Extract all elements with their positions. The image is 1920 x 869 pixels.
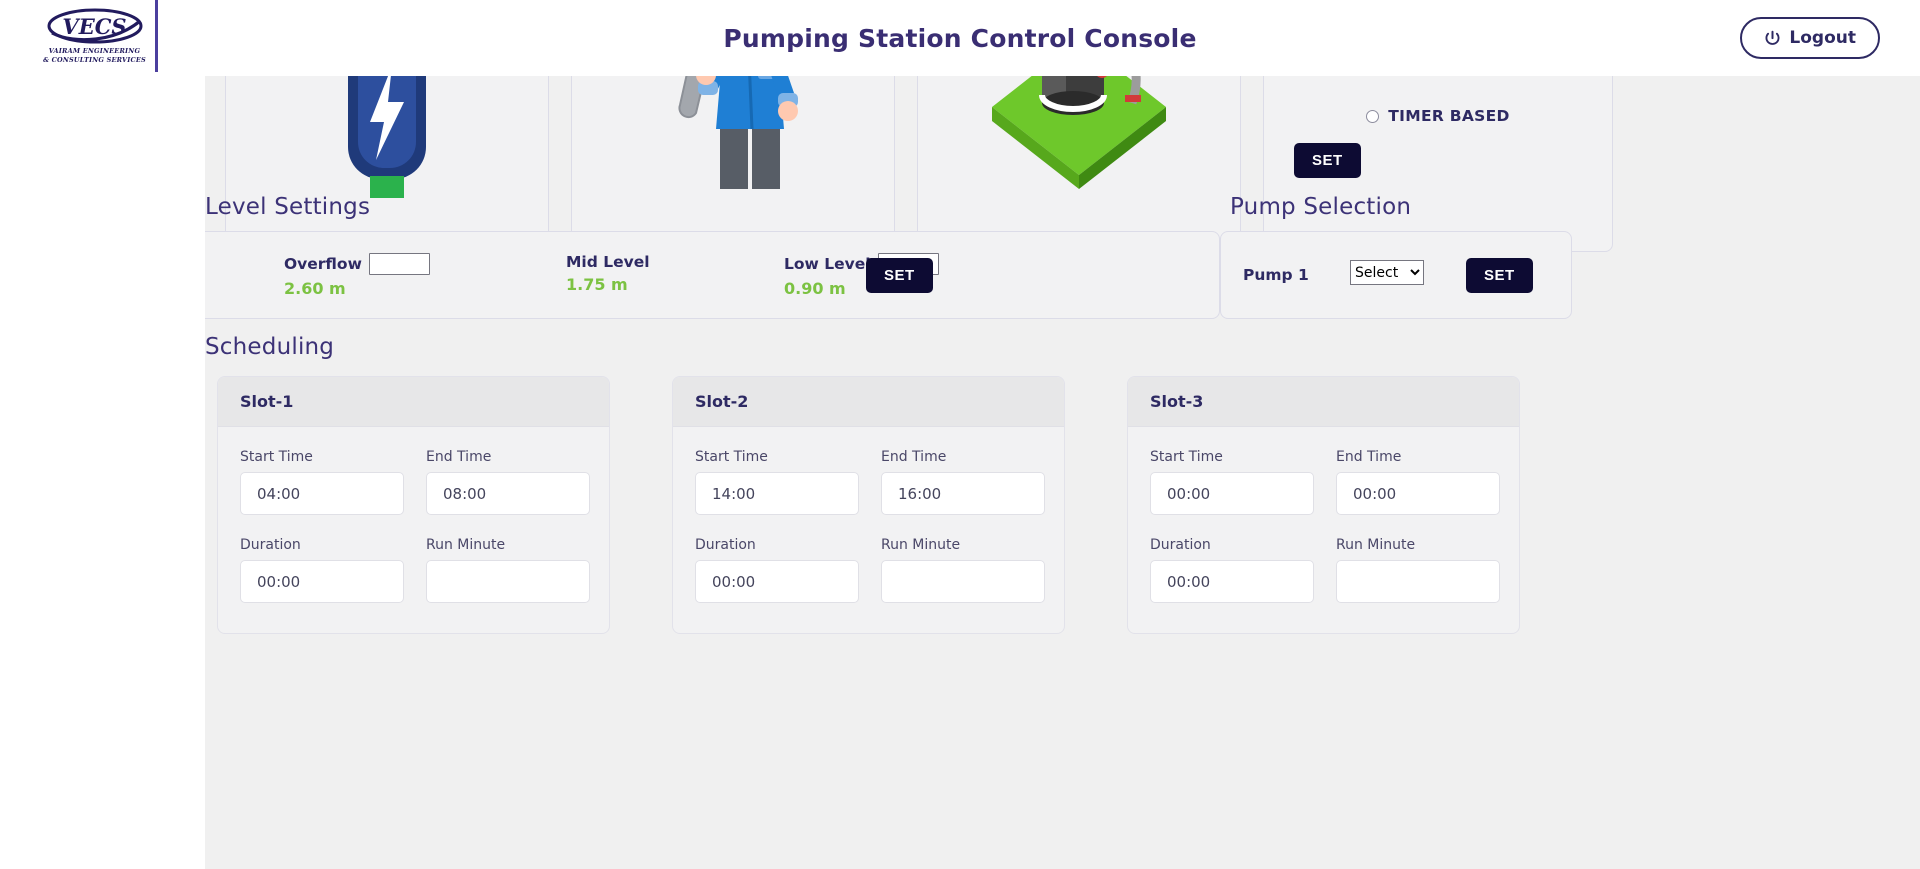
- logo-tagline-line1: VAIRAM ENGINEERING: [49, 47, 140, 56]
- logo-wordmark: VECS: [62, 14, 126, 39]
- slot-1-body: Start Time End Time Duration Run Minute: [218, 427, 609, 633]
- pump-motor-card[interactable]: [917, 76, 1241, 252]
- scheduling-heading: Scheduling: [205, 334, 334, 360]
- slot-1-end-time-input[interactable]: [426, 472, 590, 515]
- low-level-label: Low Level: [784, 255, 871, 273]
- slot-1-header: Slot-1: [218, 377, 609, 427]
- timer-based-label: TIMER BASED: [1388, 107, 1509, 125]
- schedule-slot-1: Slot-1 Start Time End Time Duration: [217, 376, 610, 634]
- slot-2-start-time-label: Start Time: [695, 449, 859, 465]
- slot-2-duration-label: Duration: [695, 537, 859, 553]
- slot-2-start-time-field: Start Time: [695, 449, 859, 515]
- pump-selection-set-button[interactable]: SET: [1466, 258, 1533, 293]
- mode-set-button[interactable]: SET: [1294, 143, 1361, 178]
- overflow-input[interactable]: [369, 253, 430, 275]
- top-header-bar: Pumping Station Control Console VECS VAI…: [0, 0, 1920, 76]
- schedule-slot-2: Slot-2 Start Time End Time Duration: [672, 376, 1065, 634]
- slot-1-start-time-input[interactable]: [240, 472, 404, 515]
- overflow-value: 2.60 m: [284, 279, 430, 298]
- pump-motor-icon: [974, 76, 1184, 209]
- slot-2-end-time-field: End Time: [881, 449, 1045, 515]
- logo-tagline-line2: & CONSULTING SERVICES: [43, 56, 146, 65]
- slot-2-end-time-label: End Time: [881, 449, 1045, 465]
- slot-1-run-minute-field: Run Minute: [426, 537, 590, 603]
- level-field-overflow: Overflow 2.60 m: [284, 253, 430, 298]
- logo-oval-icon: VECS: [46, 7, 144, 45]
- level-field-mid: Mid Level 1.75 m: [566, 253, 650, 294]
- slot-1-end-time-field: End Time: [426, 449, 590, 515]
- slot-3-duration-field: Duration: [1150, 537, 1314, 603]
- level-settings-set-button[interactable]: SET: [866, 258, 933, 293]
- technician-icon: [638, 76, 828, 219]
- pump-selection-panel: Pump 1 Select SET: [1220, 231, 1572, 319]
- slot-2-run-minute-input[interactable]: [881, 560, 1045, 603]
- slot-2-run-minute-field: Run Minute: [881, 537, 1045, 603]
- slot-2-run-minute-label: Run Minute: [881, 537, 1045, 553]
- slot-1-run-minute-input[interactable]: [426, 560, 590, 603]
- timer-based-option[interactable]: TIMER BASED: [1264, 107, 1612, 125]
- mode-selection-card: TIMER BASED SET: [1263, 76, 1613, 252]
- slot-3-end-time-input[interactable]: [1336, 472, 1500, 515]
- power-supply-card[interactable]: [225, 76, 549, 252]
- pump-1-label: Pump 1: [1243, 266, 1309, 284]
- slot-3-start-time-field: Start Time: [1150, 449, 1314, 515]
- slot-2-start-time-input[interactable]: [695, 472, 859, 515]
- slot-3-run-minute-label: Run Minute: [1336, 537, 1500, 553]
- slot-1-duration-label: Duration: [240, 537, 404, 553]
- schedule-slot-3: Slot-3 Start Time End Time Duration: [1127, 376, 1520, 634]
- slot-3-end-time-field: End Time: [1336, 449, 1500, 515]
- page-title: Pumping Station Control Console: [0, 0, 1920, 76]
- level-settings-panel: Overflow 2.60 m Mid Level 1.75 m Low Lev…: [205, 231, 1220, 319]
- slot-3-body: Start Time End Time Duration Run Minute: [1128, 427, 1519, 633]
- slot-1-run-minute-label: Run Minute: [426, 537, 590, 553]
- level-settings-heading: Level Settings: [205, 194, 370, 220]
- slot-3-title: Slot-3: [1150, 392, 1203, 411]
- slot-3-start-time-label: Start Time: [1150, 449, 1314, 465]
- main-content: TIMER BASED SET Level Settings Overflow …: [205, 76, 1920, 869]
- scheduling-slots: Slot-1 Start Time End Time Duration: [217, 376, 1917, 634]
- technician-card[interactable]: [571, 76, 895, 252]
- slot-2-title: Slot-2: [695, 392, 748, 411]
- mid-level-label: Mid Level: [566, 253, 650, 271]
- status-cards-row: TIMER BASED SET: [205, 76, 1920, 252]
- slot-1-start-time-label: Start Time: [240, 449, 404, 465]
- slot-2-end-time-input[interactable]: [881, 472, 1045, 515]
- slot-3-duration-label: Duration: [1150, 537, 1314, 553]
- company-logo: VECS VAIRAM ENGINEERING & CONSULTING SER…: [40, 0, 158, 72]
- slot-2-duration-field: Duration: [695, 537, 859, 603]
- slot-3-header: Slot-3: [1128, 377, 1519, 427]
- slot-3-run-minute-field: Run Minute: [1336, 537, 1500, 603]
- left-rail: [0, 76, 205, 869]
- pump-select-dropdown[interactable]: Select: [1350, 260, 1424, 285]
- pump-selection-heading: Pump Selection: [1230, 194, 1411, 220]
- slot-2-body: Start Time End Time Duration Run Minute: [673, 427, 1064, 633]
- slot-1-duration-field: Duration: [240, 537, 404, 603]
- slot-3-duration-input[interactable]: [1150, 560, 1314, 603]
- timer-based-radio[interactable]: [1366, 110, 1379, 123]
- overflow-label: Overflow: [284, 255, 362, 273]
- slot-1-start-time-field: Start Time: [240, 449, 404, 515]
- slot-1-duration-input[interactable]: [240, 560, 404, 603]
- slot-3-start-time-input[interactable]: [1150, 472, 1314, 515]
- slot-3-end-time-label: End Time: [1336, 449, 1500, 465]
- mid-level-value: 1.75 m: [566, 275, 650, 294]
- power-icon: [1764, 30, 1781, 47]
- slot-1-end-time-label: End Time: [426, 449, 590, 465]
- slot-2-header: Slot-2: [673, 377, 1064, 427]
- logout-button[interactable]: Logout: [1740, 17, 1880, 59]
- slot-3-run-minute-input[interactable]: [1336, 560, 1500, 603]
- logout-label: Logout: [1789, 28, 1856, 48]
- slot-2-duration-input[interactable]: [695, 560, 859, 603]
- slot-1-title: Slot-1: [240, 392, 293, 411]
